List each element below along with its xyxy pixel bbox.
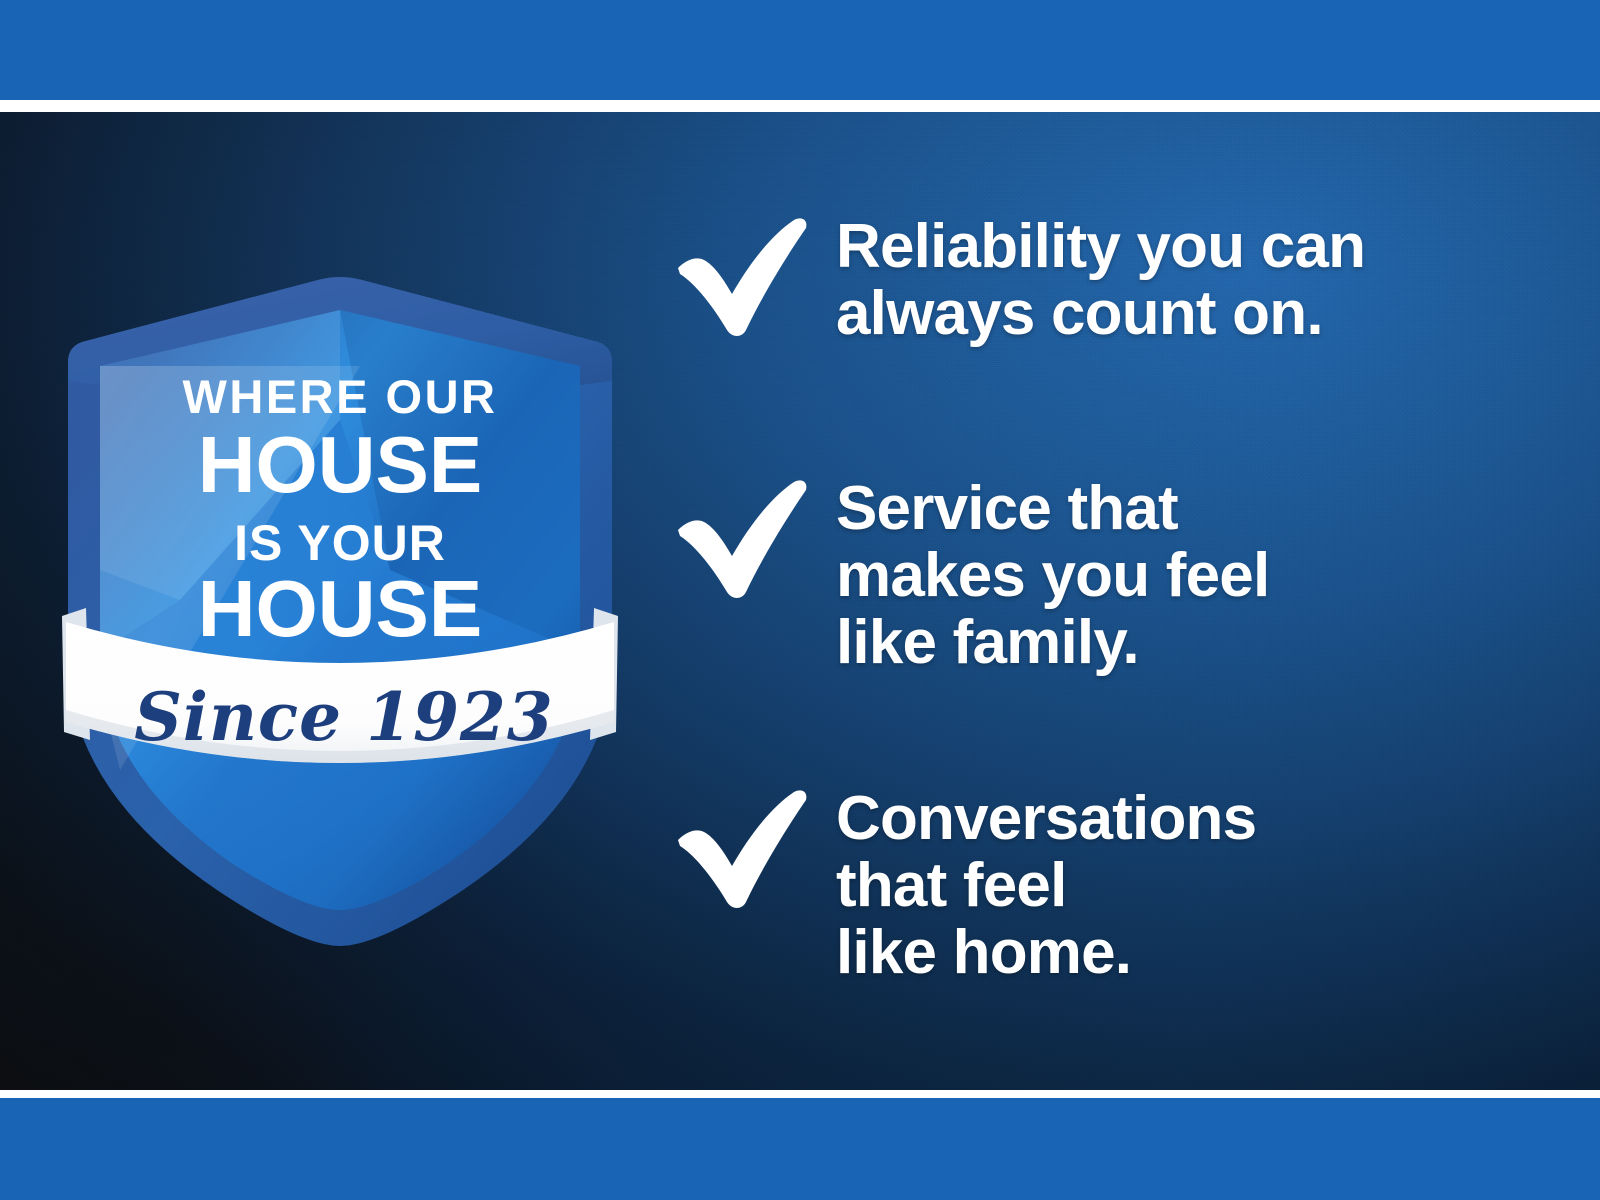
check-icon: [670, 478, 810, 598]
benefit-item: Conversations that feel like home.: [670, 784, 1550, 987]
promo-graphic: WHERE OUR HOUSE IS YOUR HOUSE: [0, 0, 1600, 1200]
benefit-text: Conversations that feel like home.: [836, 784, 1550, 987]
bottom-white-divider: [0, 1090, 1600, 1098]
badge-line-1: WHERE OUR: [183, 370, 498, 423]
banner-text: Since 1923: [134, 678, 554, 756]
badge-line-2: HOUSE: [198, 420, 483, 509]
check-icon: [670, 788, 810, 908]
badge-line-4: HOUSE: [198, 564, 483, 653]
main-stage: WHERE OUR HOUSE IS YOUR HOUSE: [0, 112, 1600, 1090]
benefit-text: Reliability you can always count on.: [836, 212, 1550, 348]
top-brand-bar: [0, 0, 1600, 100]
benefits-list: Reliability you can always count on. Ser…: [670, 112, 1550, 1090]
top-white-divider: [0, 100, 1600, 112]
shield-badge: WHERE OUR HOUSE IS YOUR HOUSE: [60, 270, 620, 950]
benefit-item: Service that makes you feel like family.: [670, 474, 1550, 677]
check-icon: [670, 216, 810, 336]
benefit-item: Reliability you can always count on.: [670, 212, 1550, 348]
benefit-text: Service that makes you feel like family.: [836, 474, 1550, 677]
bottom-brand-bar: [0, 1098, 1600, 1200]
badge-line-3: IS YOUR: [234, 515, 446, 571]
